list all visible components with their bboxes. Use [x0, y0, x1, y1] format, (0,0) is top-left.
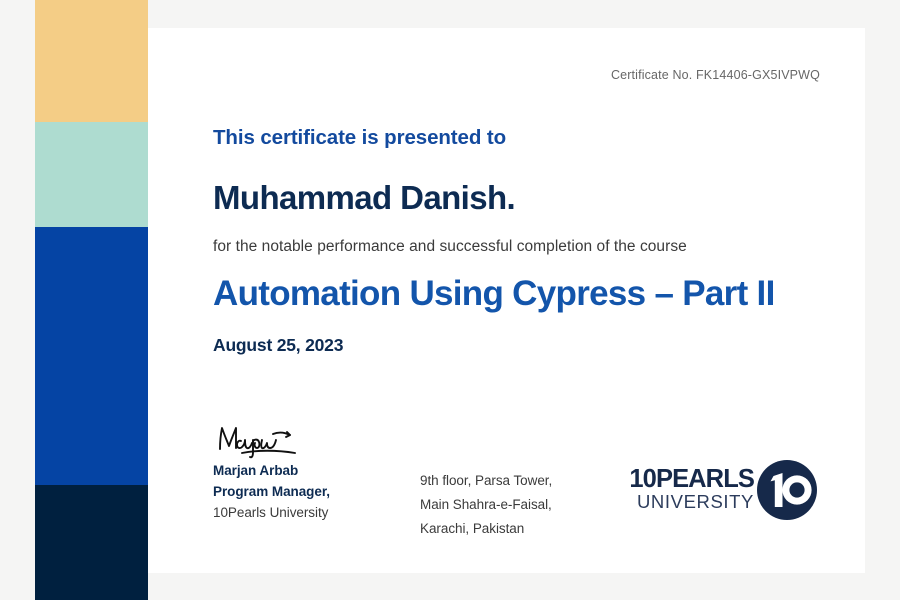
certificate-body: This certificate is presented to Muhamma… — [213, 126, 825, 356]
certificate-footer: Marjan Arbab Program Manager, 10Pearls U… — [213, 423, 835, 553]
rail-band-mint — [35, 122, 148, 227]
issue-date: August 25, 2023 — [213, 335, 825, 356]
address-line-3: Karachi, Pakistan — [420, 517, 640, 541]
signatory-organization: 10Pearls University — [213, 503, 423, 524]
certificate-subtitle: for the notable performance and successf… — [213, 238, 825, 256]
recipient-name: Muhammad Danish. — [213, 180, 825, 216]
address-line-1: 9th floor, Parsa Tower, — [420, 469, 640, 493]
rail-band-blue — [35, 227, 148, 485]
signature-icon — [215, 423, 320, 461]
signatory-role: Program Manager, — [213, 482, 423, 503]
brand-logo-wordmark: 10PEARLS UNIVERSITY — [629, 467, 754, 512]
color-rail — [35, 0, 148, 600]
certificate-number: Certificate No. FK14406-GX5IVPWQ — [611, 68, 820, 82]
brand-logo-name: 10PEARLS — [629, 467, 754, 492]
course-title: Automation Using Cypress – Part II — [213, 274, 825, 313]
brand-mark-icon — [756, 459, 818, 521]
presented-to-label: This certificate is presented to — [213, 126, 825, 150]
brand-logo-subtitle: UNIVERSITY — [629, 492, 754, 512]
certificate-card-inner: Certificate No. FK14406-GX5IVPWQ This ce… — [148, 28, 865, 573]
address-block: 9th floor, Parsa Tower, Main Shahra-e-Fa… — [420, 469, 640, 541]
certificate-page: Certificate No. FK14406-GX5IVPWQ This ce… — [0, 0, 900, 600]
certificate-card: Certificate No. FK14406-GX5IVPWQ This ce… — [148, 28, 865, 573]
signature-block: Marjan Arbab Program Manager, 10Pearls U… — [213, 423, 423, 524]
brand-logo: 10PEARLS UNIVERSITY — [629, 459, 818, 521]
rail-band-navy — [35, 485, 148, 600]
signatory-name: Marjan Arbab — [213, 461, 423, 482]
rail-band-gold — [35, 0, 148, 122]
address-line-2: Main Shahra-e-Faisal, — [420, 493, 640, 517]
